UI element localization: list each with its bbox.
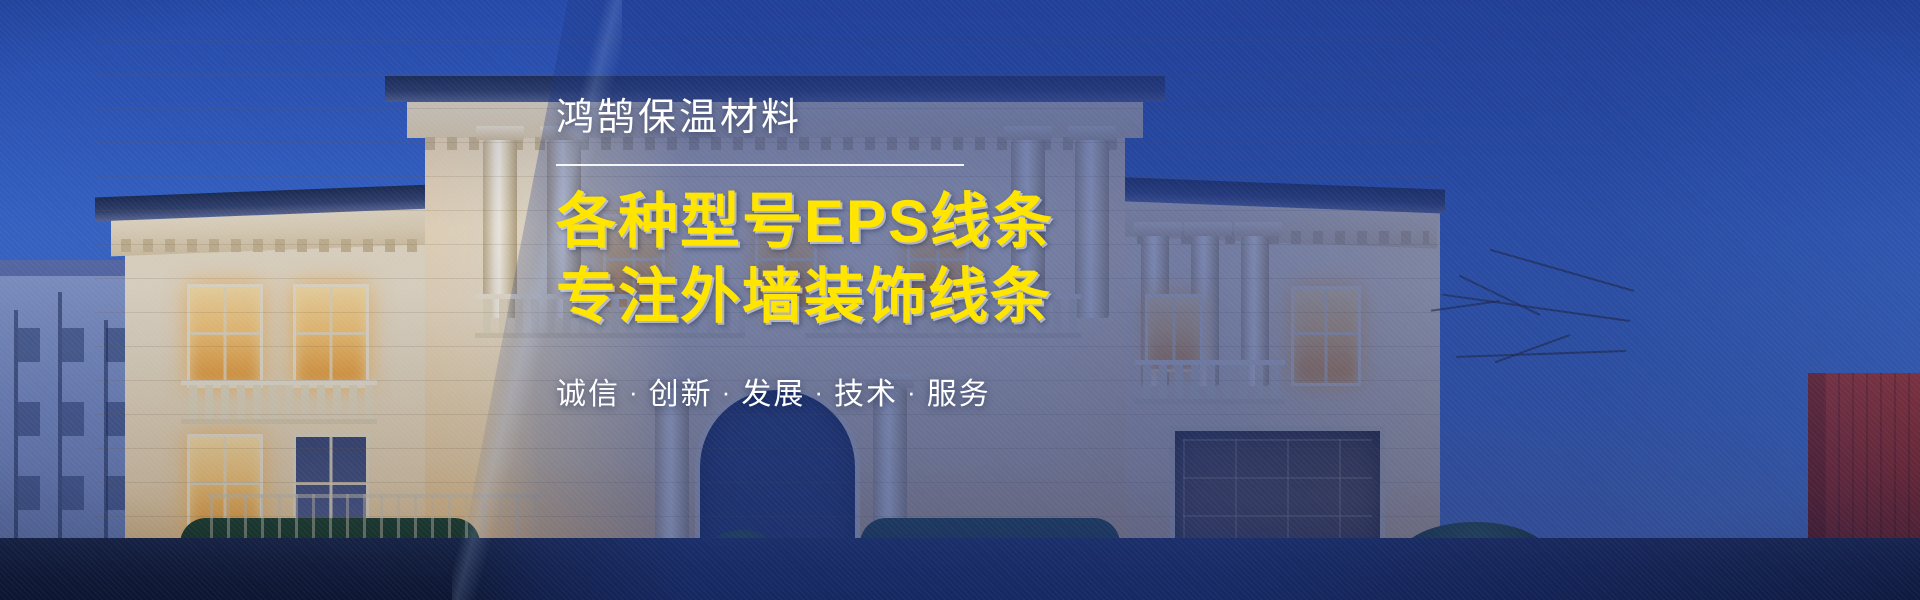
tagline-separator: · [805,377,834,407]
tagline-item: 诚信 [556,378,620,411]
ground-strip [0,538,1920,600]
tagline: 诚信·创新·发展·技术·服务 [556,369,1256,413]
title-divider [556,164,964,166]
banner-text-block: 鸿鹄保温材料 各种型号EPS线条 专注外墙装饰线条 诚信·创新·发展·技术·服务 [556,96,1256,413]
promo-banner: 鸿鹄保温材料 各种型号EPS线条 专注外墙装饰线条 诚信·创新·发展·技术·服务 [0,0,1920,600]
bare-tree [1420,230,1670,430]
tagline-separator: · [620,377,649,407]
facade-column [483,140,517,318]
tagline-separator: · [713,377,742,407]
balustrade [181,380,377,424]
tagline-item: 创新 [649,378,713,411]
scaffold-pole [14,310,18,560]
lit-window [187,284,263,388]
lit-window [1291,286,1361,386]
shipping-container [1824,373,1920,548]
scaffold-pole [58,292,62,560]
lit-window [293,284,369,388]
headline-line-2: 专注外墙装饰线条 [556,259,1256,335]
tagline-item: 服务 [927,378,991,411]
tagline-item: 发展 [741,378,805,411]
brand-name: 鸿鹄保温材料 [556,96,1256,142]
headline-line-1: 各种型号EPS线条 [556,184,1256,260]
left-wing-dentils [121,239,427,252]
tagline-separator: · [898,377,927,407]
tagline-item: 技术 [834,378,898,411]
